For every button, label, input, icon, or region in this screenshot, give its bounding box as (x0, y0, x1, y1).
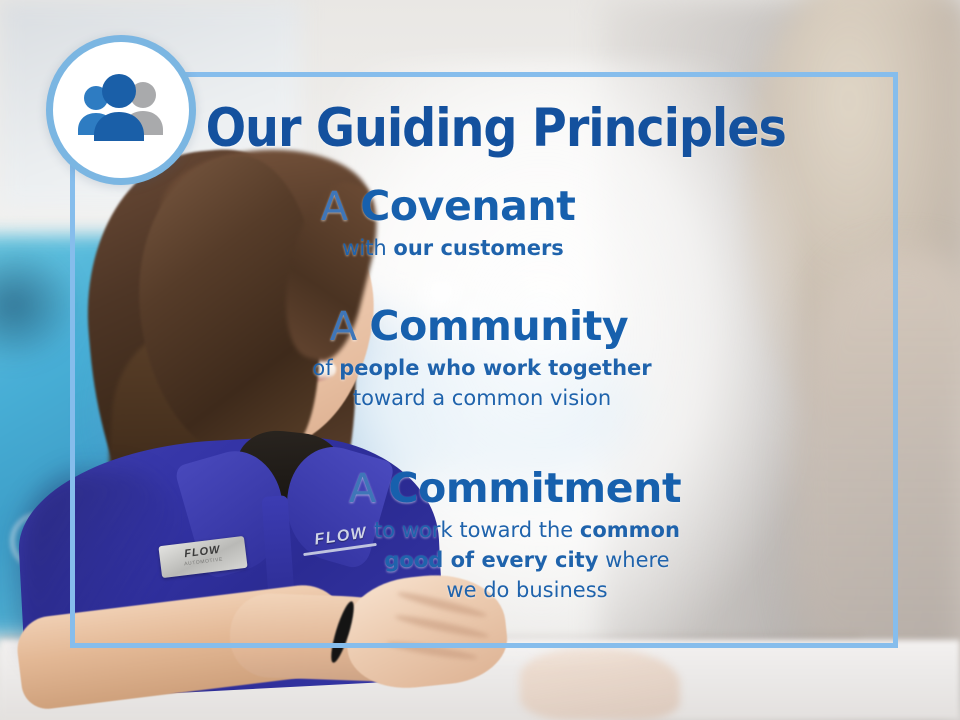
emphasis-text: our customers (393, 236, 563, 260)
plain-text: we do business (446, 578, 607, 602)
people-badge (46, 35, 196, 185)
principle-description: to work toward the common good of every … (70, 515, 898, 605)
plain-text: toward a common vision (353, 386, 611, 410)
plain-text: where (598, 548, 669, 572)
plain-text: of (312, 356, 339, 380)
principle-description-line: good of every city where (156, 545, 898, 575)
emphasis-text: people who work together (339, 356, 651, 380)
principle-heading: A Community (70, 300, 898, 353)
people-group-icon (69, 73, 173, 147)
graphic-canvas: FLOW AUTOMOTIVE FLOW Our Guiding Princip… (0, 0, 960, 720)
principle-article: A (321, 184, 348, 230)
principle-description: of people who work together toward a com… (70, 353, 898, 413)
principle-block-community: A Community of people who work together … (70, 300, 898, 413)
principle-description: with our customers (70, 233, 898, 263)
principle-description-line: to work toward the common (156, 515, 898, 545)
principle-description-line: with our customers (70, 233, 836, 263)
principle-article: A (330, 304, 357, 350)
principle-block-covenant: A Covenant with our customers (70, 180, 898, 263)
emphasis-text: good of every city (384, 548, 598, 572)
principle-description-line: of people who work together (70, 353, 894, 383)
principle-block-commitment: A Commitment to work toward the common g… (70, 462, 898, 605)
emphasis-text: common (580, 518, 680, 542)
plain-text: to work toward the (374, 518, 580, 542)
principle-description-line: we do business (156, 575, 898, 605)
principle-article: A (349, 466, 376, 512)
principle-keyword: Commitment (388, 464, 681, 512)
principle-keyword: Covenant (360, 182, 575, 230)
principle-keyword: Community (369, 302, 628, 350)
principle-heading: A Commitment (70, 462, 898, 515)
text-content-area: Our Guiding Principles A Covenant with o… (70, 72, 898, 648)
page-title: Our Guiding Principles (111, 100, 856, 158)
plain-text: with (342, 236, 393, 260)
principle-heading: A Covenant (70, 180, 898, 233)
principle-description-line: toward a common vision (70, 383, 894, 413)
